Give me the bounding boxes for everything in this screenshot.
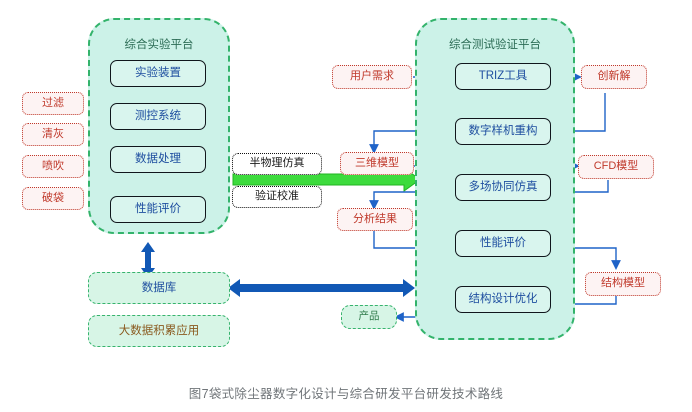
left-label-filtration[interactable]: 过滤 — [22, 92, 84, 115]
left-label-bag-rupture[interactable]: 破袋 — [22, 187, 84, 210]
big-data-block[interactable]: 大数据积累应用 — [88, 315, 230, 347]
right-label-structural-model[interactable]: 结构模型 — [585, 272, 661, 296]
input-label-user-requirements[interactable]: 用户需求 — [332, 65, 412, 89]
center-label-3d-model[interactable]: 三维模型 — [340, 152, 414, 175]
right-platform-title: 综合测试验证平台 — [415, 36, 575, 52]
left-label-ash-cleaning[interactable]: 清灰 — [22, 123, 84, 146]
right-step-3[interactable]: 多场协同仿真 — [455, 174, 551, 201]
right-step-4[interactable]: 性能评价 — [455, 230, 551, 257]
middle-label-verification-calibration[interactable]: 验证校准 — [232, 186, 322, 208]
database-block[interactable]: 数据库 — [88, 272, 230, 304]
right-label-cfd-model[interactable]: CFD模型 — [578, 155, 654, 179]
right-label-innovative-solution[interactable]: 创新解 — [581, 65, 647, 89]
database-right-platform-arrow — [228, 279, 415, 297]
right-step-2[interactable]: 数字样机重构 — [455, 118, 551, 145]
right-step-1[interactable]: TRIZ工具 — [455, 63, 551, 90]
figure-canvas: 综合实验平台 实验装置 测控系统 数据处理 性能评价 过滤 清灰 喷吹 破袋 半… — [0, 0, 692, 412]
left-step-4[interactable]: 性能评价 — [110, 196, 206, 223]
left-label-pulse-jet[interactable]: 喷吹 — [22, 155, 84, 178]
figure-caption: 图7袋式除尘器数字化设计与综合研发平台研发技术路线 — [0, 383, 692, 402]
product-block[interactable]: 产品 — [341, 305, 397, 329]
left-step-2[interactable]: 测控系统 — [110, 103, 206, 130]
left-step-1[interactable]: 实验装置 — [110, 60, 206, 87]
center-label-analysis-result[interactable]: 分析结果 — [337, 208, 413, 231]
left-platform-title: 综合实验平台 — [88, 36, 230, 52]
left-step-3[interactable]: 数据处理 — [110, 146, 206, 173]
middle-label-semi-physical-simulation[interactable]: 半物理仿真 — [232, 153, 322, 175]
right-step-5[interactable]: 结构设计优化 — [455, 286, 551, 313]
